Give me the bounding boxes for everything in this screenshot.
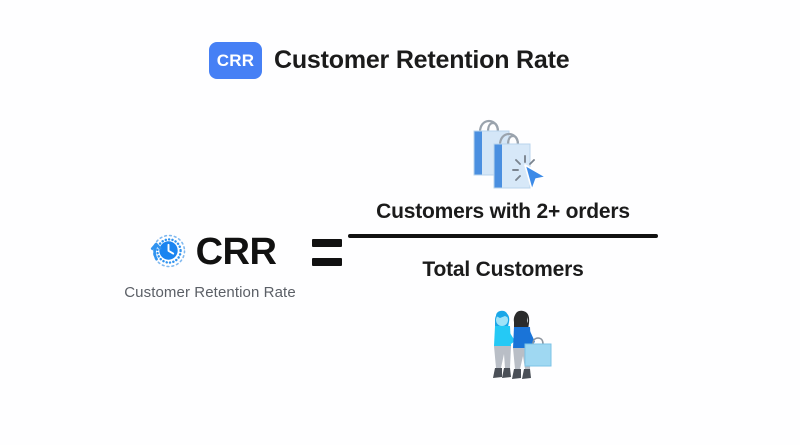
crr-badge: CRR <box>209 42 262 79</box>
diagram-canvas: CRR Customer Retention Rate CRR Customer… <box>0 0 800 445</box>
crr-wordmark: CRR <box>196 233 277 271</box>
shoppers-people-illustration <box>473 306 555 388</box>
shopping-bags-click-illustration <box>466 108 556 196</box>
equals-bar-top <box>312 239 342 247</box>
crr-logo-block: CRR Customer Retention Rate <box>112 228 308 301</box>
equals-bar-bottom <box>312 258 342 266</box>
fraction-denominator: Total Customers <box>348 238 658 282</box>
header: CRR Customer Retention Rate <box>209 42 569 79</box>
page-title: Customer Retention Rate <box>274 46 569 75</box>
shopper-person-left <box>493 311 515 378</box>
crr-logo-row: CRR <box>112 228 308 276</box>
crr-logo-subtitle: Customer Retention Rate <box>112 284 308 301</box>
equals-sign <box>312 236 342 270</box>
fraction-numerator: Customers with 2+ orders <box>348 200 658 234</box>
clock-refresh-icon <box>144 229 190 275</box>
formula-fraction: Customers with 2+ orders Total Customers <box>348 200 658 282</box>
